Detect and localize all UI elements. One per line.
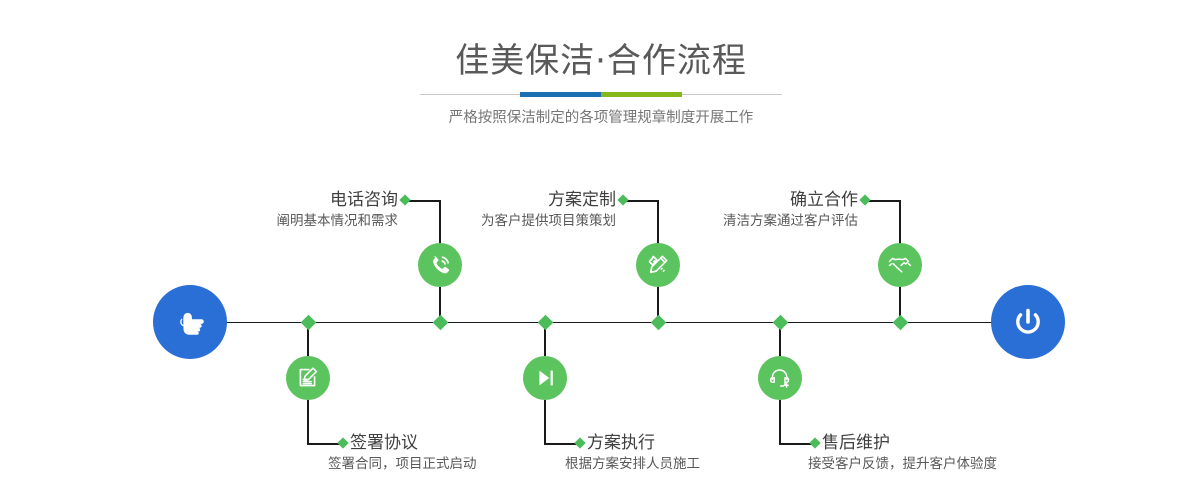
- step-label-1: 电话咨询 阐明基本情况和需求: [170, 189, 398, 231]
- pencil-ruler-icon: [645, 252, 671, 278]
- divider-blue-segment: [520, 92, 601, 97]
- handshake-icon: [887, 252, 913, 278]
- label-marker-top-3: [859, 194, 870, 205]
- power-icon: [1007, 301, 1049, 343]
- connector-bottom-2-vertical-lower: [544, 400, 546, 444]
- document-edit-icon: [295, 365, 321, 391]
- axis-marker-5: [892, 314, 908, 330]
- connector-top-3-vertical-upper: [899, 200, 901, 245]
- phone-call-icon: [427, 252, 453, 278]
- step-desc-6: 接受客户反馈，提升客户体验度: [808, 454, 1102, 474]
- flow-start-node: [153, 285, 227, 359]
- step-node-6: [758, 356, 802, 400]
- connector-bottom-3-vertical-lower: [779, 400, 781, 444]
- headset-support-icon: [767, 365, 793, 391]
- axis-marker-4: [537, 314, 553, 330]
- flow-end-node: [991, 285, 1065, 359]
- play-skip-icon: [532, 365, 558, 391]
- axis-marker-3: [650, 314, 666, 330]
- step-desc-5: 清洁方案通过客户评估: [630, 211, 858, 231]
- axis-marker-1: [432, 314, 448, 330]
- step-label-5: 确立合作 清洁方案通过客户评估: [630, 189, 858, 231]
- step-title-5: 确立合作: [630, 189, 858, 211]
- label-marker-top-2: [617, 194, 628, 205]
- step-node-3: [636, 243, 680, 287]
- step-desc-3: 为客户提供项目策策划: [390, 211, 616, 231]
- step-label-6: 售后维护 接受客户反馈，提升客户体验度: [822, 432, 1102, 474]
- step-desc-4: 根据方案安排人员施工: [565, 454, 847, 474]
- step-label-3: 方案定制 为客户提供项目策策划: [390, 189, 616, 231]
- axis-marker-2: [300, 314, 316, 330]
- hand-pointing-icon: [170, 302, 210, 342]
- page-title: 佳美保洁·合作流程: [0, 40, 1202, 82]
- step-node-5: [878, 243, 922, 287]
- axis-marker-6: [772, 314, 788, 330]
- step-node-1: [418, 243, 462, 287]
- divider-green-segment: [601, 92, 682, 97]
- label-marker-bottom-1: [337, 437, 348, 448]
- step-desc-1: 阐明基本情况和需求: [170, 211, 398, 231]
- step-title-6: 售后维护: [822, 432, 1102, 454]
- step-title-1: 电话咨询: [170, 189, 398, 211]
- connector-bottom-1-vertical-lower: [307, 400, 309, 444]
- process-flow-infographic: 佳美保洁·合作流程 严格按照保洁制定的各项管理规章制度开展工作: [0, 0, 1202, 502]
- step-title-3: 方案定制: [390, 189, 616, 211]
- title-divider: [420, 92, 782, 98]
- page-subtitle: 严格按照保洁制定的各项管理规章制度开展工作: [0, 108, 1202, 128]
- step-node-4: [523, 356, 567, 400]
- step-node-2: [286, 356, 330, 400]
